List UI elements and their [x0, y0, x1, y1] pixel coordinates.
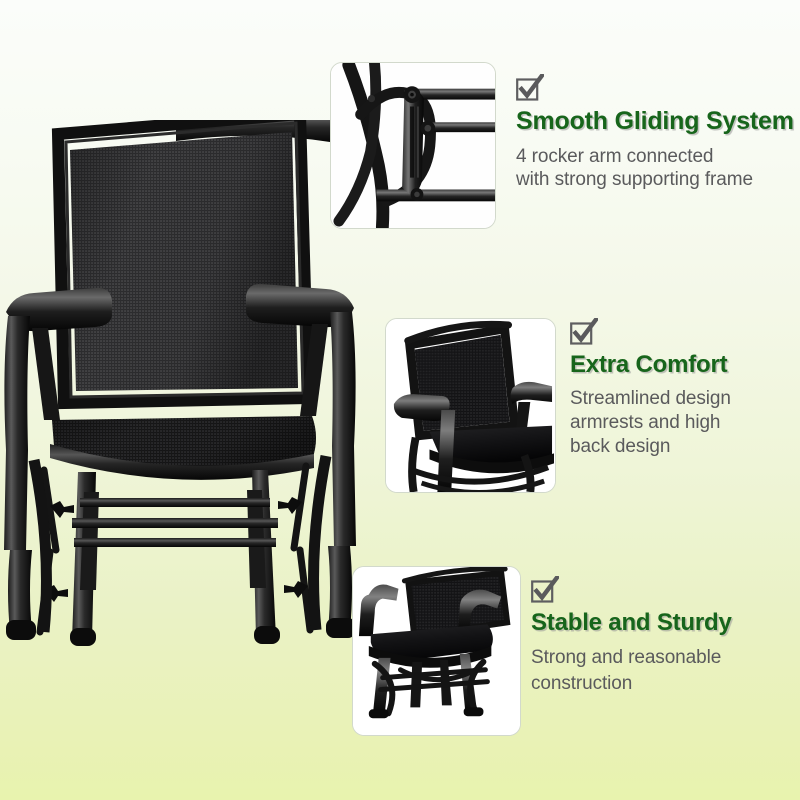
hero-product-image: [0, 120, 360, 690]
glider-chair-back-closeup-photo: [386, 319, 555, 492]
feature-description-line: Streamlined design: [570, 387, 800, 411]
glider-rocker-arm-closeup-photo: [331, 63, 495, 228]
feature-description: 4 rocker arm connected with strong suppo…: [516, 145, 798, 193]
checkbox-checked-icon: [531, 576, 559, 603]
feature-description-line: Strong and reasonable: [531, 645, 799, 671]
glider-chair-front-photo: [0, 120, 360, 690]
feature-title: Stable and Sturdy: [531, 610, 799, 636]
feature-description-line: 4 rocker arm connected: [516, 145, 798, 169]
feature-panel-extra-comfort: [385, 318, 556, 493]
feature-description-line: with strong supporting frame: [516, 168, 798, 192]
feature-description-line: back design: [570, 435, 800, 459]
feature-description-line: construction: [531, 671, 799, 697]
feature-panel-stable-and-sturdy: [352, 566, 521, 736]
feature-block-stable-and-sturdy: Stable and Sturdy Strong and reasonable …: [531, 576, 799, 697]
feature-block-extra-comfort: Extra Comfort Streamlined design armrest…: [570, 318, 800, 459]
feature-panel-smooth-gliding-system: [330, 62, 496, 229]
feature-description-line: armrests and high: [570, 411, 800, 435]
feature-block-smooth-gliding-system: Smooth Gliding System 4 rocker arm conne…: [516, 74, 798, 192]
feature-description: Streamlined design armrests and high bac…: [570, 387, 800, 459]
feature-description: Strong and reasonable construction: [531, 645, 799, 696]
infographic-canvas: Smooth Gliding System 4 rocker arm conne…: [0, 0, 800, 800]
feature-title: Extra Comfort: [570, 352, 800, 378]
glider-chair-side-angle-photo: [353, 567, 520, 735]
feature-title: Smooth Gliding System: [516, 108, 798, 136]
checkbox-checked-icon: [516, 74, 544, 101]
checkbox-checked-icon: [570, 318, 598, 345]
